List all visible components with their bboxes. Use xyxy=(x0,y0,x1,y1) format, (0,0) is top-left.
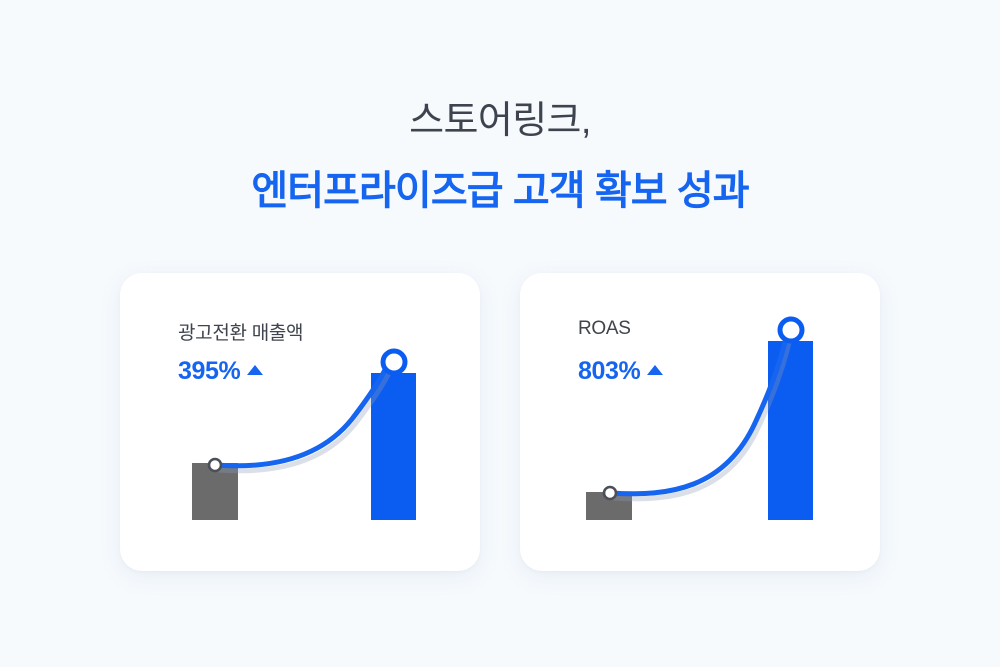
metric-card-roas[interactable]: ROAS 803% xyxy=(520,273,880,571)
headline-line-2: 엔터프라이즈급 고객 확보 성과 xyxy=(0,166,1000,216)
bar-line-chart-roas xyxy=(520,273,880,571)
card-metric-value-ad-revenue: 395% xyxy=(178,357,240,386)
headline-block: 스토어링크, 엔터프라이즈급 고객 확보 성과 xyxy=(0,98,1000,216)
triangle-up-icon xyxy=(247,365,263,375)
card-metric-value-roas: 803% xyxy=(578,357,640,386)
headline-line-1: 스토어링크, xyxy=(0,98,1000,146)
triangle-up-icon xyxy=(647,365,663,375)
marker-before xyxy=(604,487,616,499)
marker-after xyxy=(780,319,802,341)
metric-cards-row: 광고전환 매출액 395% ROAS xyxy=(120,273,880,573)
metric-card-ad-revenue[interactable]: 광고전환 매출액 395% xyxy=(120,273,480,571)
card-label-ad-revenue: 광고전환 매출액 xyxy=(178,318,303,345)
card-metric-ad-revenue: 395% xyxy=(178,357,263,386)
marker-after xyxy=(383,351,405,373)
marker-before xyxy=(209,459,221,471)
trend-curve xyxy=(611,319,790,494)
trend-curve-shadow xyxy=(614,324,793,499)
card-metric-roas: 803% xyxy=(578,357,663,386)
page-root: 스토어링크, 엔터프라이즈급 고객 확보 성과 xyxy=(0,0,1000,667)
card-label-roas: ROAS xyxy=(578,318,631,340)
